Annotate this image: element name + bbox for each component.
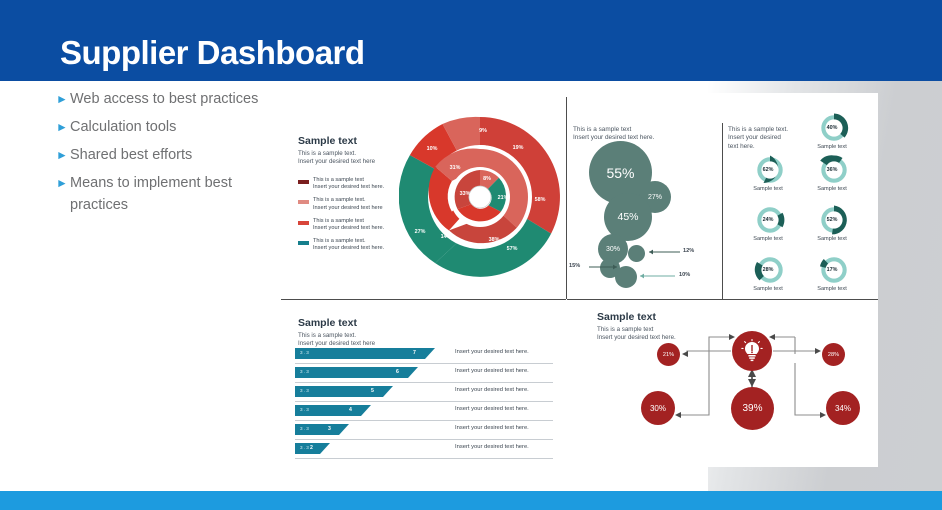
bars-panel-header: Sample text This is a sample text. Inser… <box>298 317 448 349</box>
bar-fill <box>295 348 425 359</box>
bar-arrow-tip <box>383 386 393 397</box>
gauge-caption: Sample text <box>745 286 791 292</box>
bullet-label: Web access to best practices <box>70 88 258 110</box>
bar-fill <box>295 367 408 378</box>
gauge-40: 40% Sample text <box>809 113 859 150</box>
donut-label-middle-38: 38% <box>489 237 500 243</box>
gauge-panel-subtitle: This is a sample text. Insert your desir… <box>728 126 802 151</box>
bar-category-label: 3.3 <box>300 445 310 450</box>
legend-label: This is a sample text. Insert your desir… <box>313 238 384 253</box>
donut-label-inner-21: 21% <box>498 195 509 201</box>
bar-value-label: 7 <box>413 350 416 356</box>
triangle-right-icon: ► <box>52 116 70 138</box>
bar-category-label: 3.3 <box>300 426 310 431</box>
bar-category-label: 3.3 <box>300 369 310 374</box>
bar-value-label: 5 <box>371 388 374 394</box>
bar-baseline <box>295 420 553 421</box>
triangle-right-icon: ► <box>52 172 70 194</box>
bar-row: 3.3 6 Insert your desired text here. <box>295 366 557 383</box>
bubble-panel: This is a sample text Insert your desire… <box>567 93 722 298</box>
gauge-24: 24% Sample text <box>745 205 795 242</box>
gauge-28: 28% Sample text <box>745 255 795 292</box>
lightbulb-icon <box>741 339 763 363</box>
gauge-value: 40% <box>809 125 855 131</box>
gauge-36: 36% Sample text <box>809 155 859 192</box>
donut-label-inner-33: 33% <box>460 191 471 197</box>
node-21: 21% <box>657 343 680 366</box>
legend-swatch-icon <box>298 200 309 204</box>
legend-swatch-icon <box>298 180 309 184</box>
gauge-value: 17% <box>809 267 855 273</box>
legend-item: This is a sample text Insert your desire… <box>298 218 410 233</box>
bar-category-label: 3.3 <box>300 350 310 355</box>
gauge-value: 36% <box>809 167 855 173</box>
donut-panel-header: Sample text This is a sample text. Inser… <box>298 135 403 167</box>
bar-description: Insert your desired text here. <box>455 444 529 450</box>
legend-label: This is a sample text Insert your desire… <box>313 218 384 233</box>
bullet-label: Shared best efforts <box>70 144 192 166</box>
gauge-caption: Sample text <box>745 236 791 242</box>
bar-description: Insert your desired text here. <box>455 387 529 393</box>
bar-baseline <box>295 382 553 383</box>
gauge-panel-header: This is a sample text. Insert your desir… <box>728 123 802 151</box>
donut-panel-title: Sample text <box>298 135 403 147</box>
list-item: ► Web access to best practices <box>52 88 287 110</box>
concentric-donut-chart: 58% 19% 9% 10% 57% 27% 31% 14% 38% 8% 21… <box>399 113 561 281</box>
bar-description: Insert your desired text here. <box>455 368 529 374</box>
list-item: ► Shared best efforts <box>52 144 287 166</box>
bullet-label: Calculation tools <box>70 116 176 138</box>
gauge-value: 24% <box>745 217 791 223</box>
donut-label-middle-31: 31% <box>450 165 461 171</box>
bullet-list: ► Web access to best practices ► Calcula… <box>52 88 287 222</box>
gauge-value: 52% <box>809 217 855 223</box>
donut-label-outer-9: 9% <box>479 128 487 134</box>
bar-arrow-tip <box>361 405 371 416</box>
bar-description: Insert your desired text here. <box>455 406 529 412</box>
donut-panel: Sample text This is a sample text. Inser… <box>281 93 566 298</box>
node-34: 34% <box>826 391 860 425</box>
bar-arrow-tip <box>339 424 349 435</box>
bar-row: 3.3 7 Insert your desired text here. <box>295 347 557 364</box>
donut-panel-subtitle: This is a sample text. Insert your desir… <box>298 150 403 167</box>
donut-label-outer-27: 27% <box>415 229 426 235</box>
gauge-17: 17% Sample text <box>809 255 859 292</box>
donut-label-outer-10: 10% <box>427 146 438 152</box>
bar-category-label: 3.3 <box>300 388 310 393</box>
gauge-caption: Sample text <box>809 286 855 292</box>
bar-baseline <box>295 363 553 364</box>
triangle-right-icon: ► <box>52 144 70 166</box>
diagram-panel: Sample text This is a sample text Insert… <box>567 299 878 467</box>
legend-swatch-icon <box>298 241 309 245</box>
dashboard-card: Sample text This is a sample text. Inser… <box>281 93 878 467</box>
bar-value-label: 3 <box>328 426 331 432</box>
bubble-callout-lines <box>567 135 722 295</box>
donut-label-outer-58: 58% <box>535 197 546 203</box>
legend-label: This is a sample text Insert your desire… <box>313 177 384 192</box>
bar-value-label: 4 <box>349 407 352 413</box>
page-title: Supplier Dashboard <box>60 34 365 72</box>
donut-label-outer-57: 57% <box>507 246 518 252</box>
legend-label: This is a sample text. Insert your desir… <box>313 197 383 212</box>
bar-list: 3.3 7 Insert your desired text here. 3.3… <box>295 347 557 461</box>
legend-item: This is a sample text. Insert your desir… <box>298 238 410 253</box>
node-30: 30% <box>641 391 675 425</box>
bar-row: 3.3 3 Insert your desired text here. <box>295 423 557 440</box>
donut-label-outer-19: 19% <box>513 145 524 151</box>
gauge-caption: Sample text <box>809 144 855 150</box>
bar-value-label: 2 <box>310 445 313 451</box>
bar-description: Insert your desired text here. <box>455 425 529 431</box>
bar-value-label: 6 <box>396 369 399 375</box>
donut-label-inner-8: 8% <box>483 176 491 182</box>
bar-baseline <box>295 401 553 402</box>
list-item: ► Calculation tools <box>52 116 287 138</box>
bar-row: 3.3 4 Insert your desired text here. <box>295 404 557 421</box>
relationship-diagram: 21% 28% 30% 39% 34% <box>567 307 878 465</box>
gauge-caption: Sample text <box>809 186 855 192</box>
legend-swatch-icon <box>298 221 309 225</box>
donut-label-middle-14: 14% <box>441 234 452 240</box>
node-28: 28% <box>822 343 845 366</box>
bar-arrow-tip <box>408 367 418 378</box>
gauge-value: 28% <box>745 267 791 273</box>
bubble-chart: 55% 27% 45% 30% 12% 15% 10% <box>567 135 722 295</box>
bar-row: 3.3 5 Insert your desired text here. <box>295 385 557 402</box>
bar-row: 3.3 2 Insert your desired text here. <box>295 442 557 459</box>
bars-panel-title: Sample text <box>298 317 448 329</box>
bar-description: Insert your desired text here. <box>455 349 529 355</box>
slide-canvas: Supplier Dashboard ► Web access to best … <box>0 0 942 510</box>
gauge-caption: Sample text <box>745 186 791 192</box>
gauge-panel: This is a sample text. Insert your desir… <box>723 93 878 298</box>
gauge-52: 52% Sample text <box>809 205 859 242</box>
center-node <box>732 331 772 371</box>
bar-category-label: 3.3 <box>300 407 310 412</box>
node-39: 39% <box>731 387 774 430</box>
bar-arrow-tip <box>425 348 435 359</box>
legend-item: This is a sample text. Insert your desir… <box>298 197 410 212</box>
triangle-right-icon: ► <box>52 88 70 110</box>
gauge-caption: Sample text <box>809 236 855 242</box>
bar-baseline <box>295 458 553 459</box>
donut-legend: This is a sample text Insert your desire… <box>298 177 410 258</box>
list-item: ► Means to implement best practices <box>52 172 287 216</box>
bars-panel: Sample text This is a sample text. Inser… <box>281 299 566 467</box>
footer-band <box>0 491 942 510</box>
diagram-connectors <box>567 307 878 465</box>
legend-item: This is a sample text Insert your desire… <box>298 177 410 192</box>
gauge-62: 62% Sample text <box>745 155 795 192</box>
bar-arrow-tip <box>320 443 330 454</box>
bar-baseline <box>295 439 553 440</box>
bullet-label: Means to implement best practices <box>70 172 287 216</box>
gauge-value: 62% <box>745 167 791 173</box>
